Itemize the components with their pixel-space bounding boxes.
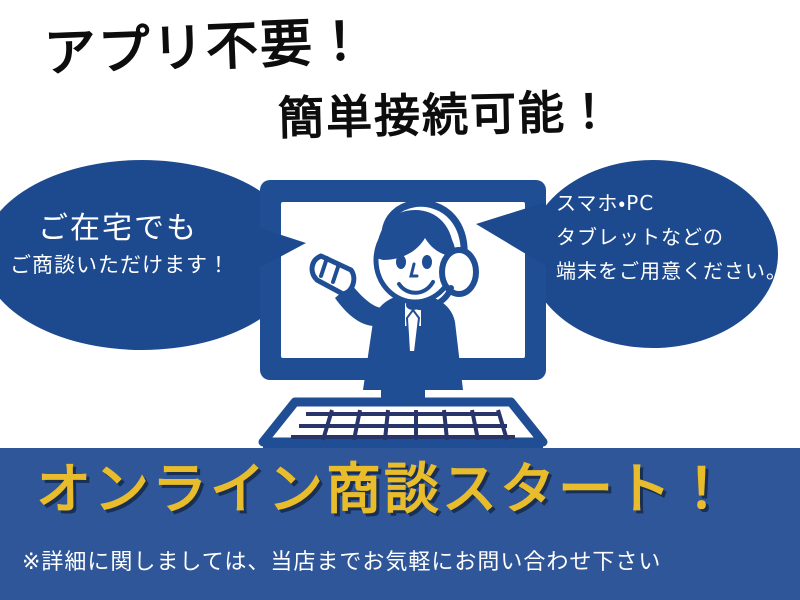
headline-easy-connection: 簡単接続可能！: [278, 88, 615, 141]
bubble-ellipse-right: [528, 160, 778, 348]
bubble-left-line-1: ご在宅でも: [38, 212, 198, 246]
bubble-tail-left: [220, 215, 306, 289]
headline-no-app-required: アプリ不要！: [43, 16, 369, 80]
device-requirement-bubble: スマホ・PC タブレットなどの 端末をご用意ください。: [528, 160, 778, 348]
bubble-right-line-1: スマホ・PC: [556, 192, 654, 214]
bubble-tail-right: [476, 202, 546, 266]
keyboard-base: [263, 402, 543, 450]
bubble-left-line-2: ご商談いただけます！: [10, 254, 230, 278]
bottom-banner: オンライン商談スタート！ ※詳細に関しましては、当店までお気軽にお問い合わせ下さ…: [0, 448, 800, 600]
bubble-right-line-2: タブレットなどの: [556, 226, 724, 248]
banner-title-online-consultation-start: オンライン商談スタート！: [36, 462, 732, 517]
bubble-right-line-3: 端末をご用意ください。: [556, 260, 787, 282]
promo-banner-canvas: アプリ不要！ 簡単接続可能！ ご在宅でも ご商談いただけます！ スマホ・PC タ…: [0, 0, 800, 600]
banner-contact-note: ※詳細に関しましては、当店までお気軽にお問い合わせ下さい: [22, 544, 661, 576]
